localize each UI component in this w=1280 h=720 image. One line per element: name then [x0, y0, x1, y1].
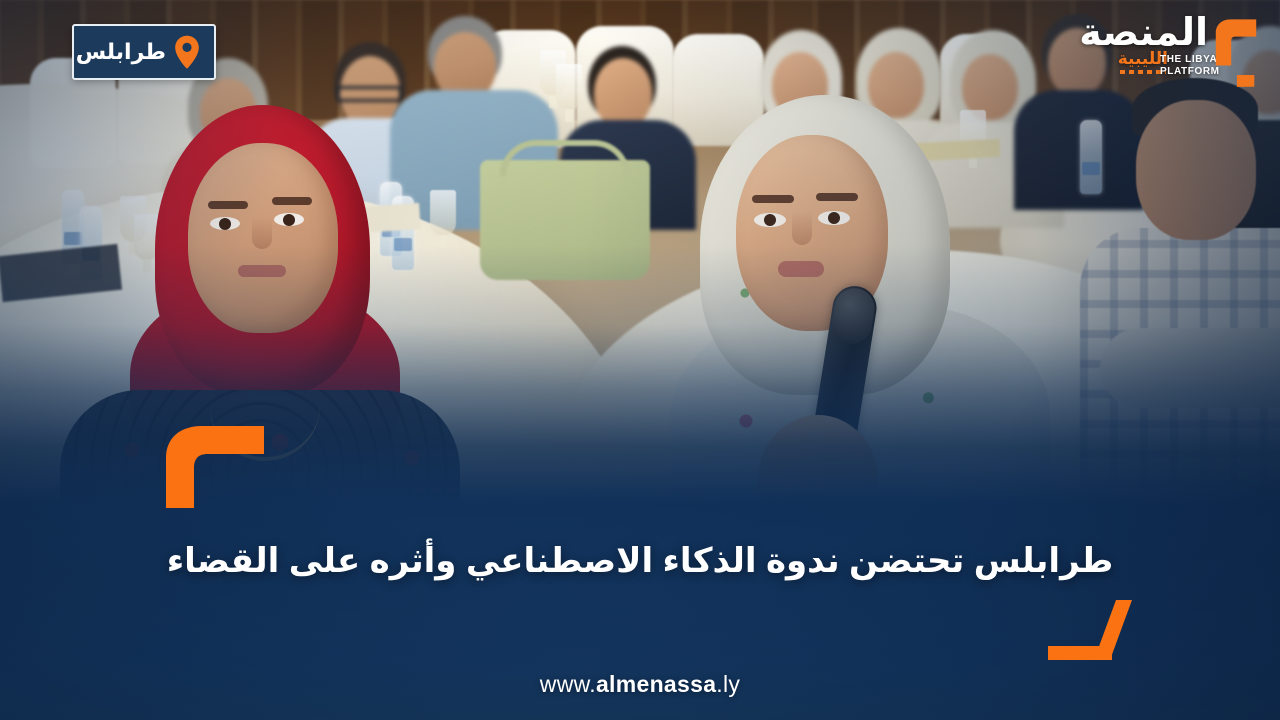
location-badge-label: طرابلس	[76, 41, 166, 63]
orange-corner-bracket-icon	[160, 424, 264, 508]
brand-logo[interactable]: المنصة الليبية THE LIBYAN PLATFORM	[1090, 14, 1262, 100]
headline: طرابلس تحتضن ندوة الذكاء الاصطناعي وأثره…	[0, 539, 1280, 585]
url-tld: .ly	[716, 671, 740, 697]
logo-text-block: المنصة الليبية THE LIBYAN PLATFORM	[1090, 14, 1208, 100]
logo-arabic-main: المنصة	[1090, 14, 1208, 52]
brand-mark-icon	[1210, 14, 1262, 94]
orange-angle-bracket-icon	[1048, 600, 1146, 660]
url-name: almenassa	[596, 671, 716, 697]
location-badge[interactable]: طرابلس	[72, 24, 216, 80]
map-pin-icon	[174, 35, 200, 69]
url-prefix: www.	[540, 671, 596, 697]
footer-website-url[interactable]: www.almenassa.ly	[0, 671, 1280, 698]
news-card: طرابلس المنصة الليبية THE LIBYAN PLATFOR…	[0, 0, 1280, 720]
